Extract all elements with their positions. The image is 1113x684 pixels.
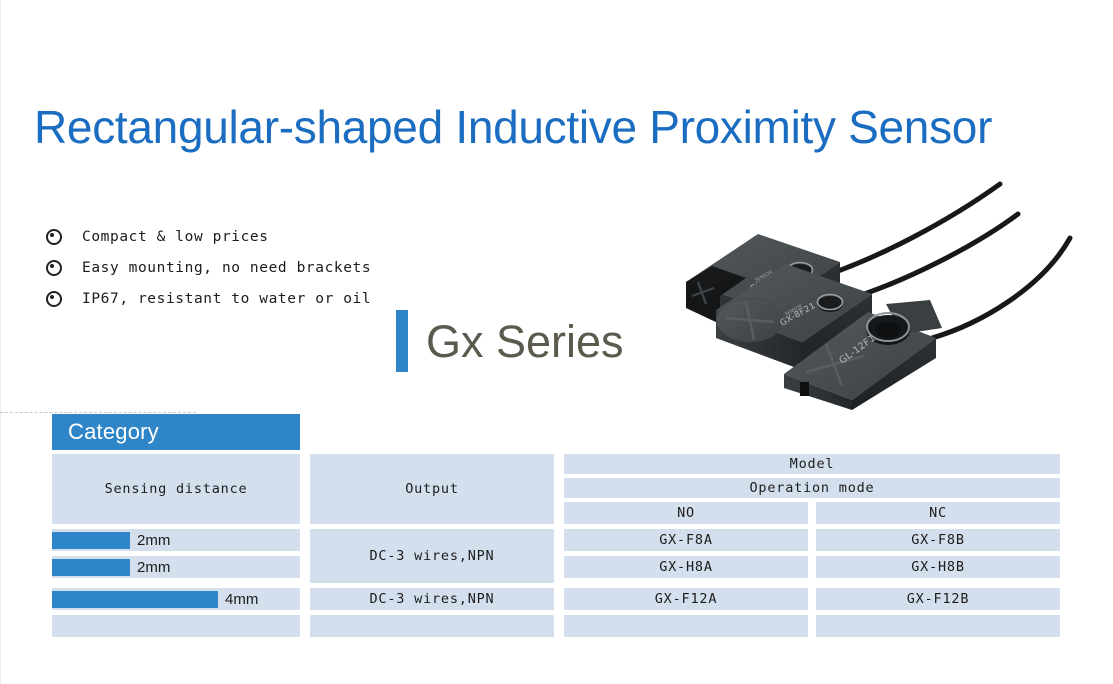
series-heading: Gx Series [396, 310, 624, 372]
cell-output: DC-3 wires,NPN [310, 588, 554, 610]
category-banner: Category [52, 414, 300, 450]
header-nc: NC [816, 502, 1060, 524]
sensing-distance-bar [52, 532, 130, 549]
header-operation-mode: Operation mode [564, 478, 1060, 498]
category-banner-label: Category [52, 419, 159, 445]
page-title: Rectangular-shaped Inductive Proximity S… [34, 97, 1074, 157]
cell-model-nc [816, 615, 1060, 637]
cell-model-nc: GX-F12B [816, 588, 1060, 610]
table-row: 2mm [52, 556, 300, 578]
list-item: Easy mounting, no need brackets [46, 252, 466, 283]
sensing-distance-label: 4mm [225, 591, 258, 608]
product-photo: GX-8H21 SENSOR GX-8F21 SENSOR [650, 178, 1113, 410]
table-row: 2mm [52, 529, 300, 551]
list-item: Compact & low prices [46, 221, 466, 252]
cell-model-no: GX-H8A [564, 556, 808, 578]
feature-text: IP67, resistant to water or oil [82, 291, 371, 307]
table-row: 4mm [52, 588, 300, 610]
series-label: Gx Series [426, 319, 624, 364]
cell-model-no: GX-F12A [564, 588, 808, 610]
cell-model-no [564, 615, 808, 637]
header-model: Model [564, 454, 1060, 474]
page-left-edge [0, 0, 1, 684]
cell-output [310, 615, 554, 637]
cell-model-nc: GX-H8B [816, 556, 1060, 578]
feature-list: Compact & low prices Easy mounting, no n… [46, 221, 466, 314]
cell-model-no: GX-F8A [564, 529, 808, 551]
header-no: NO [564, 502, 808, 524]
feature-text: Easy mounting, no need brackets [82, 260, 371, 276]
header-output: Output [310, 454, 554, 524]
sensing-distance-label: 2mm [137, 559, 170, 576]
bullet-dot-icon [46, 229, 62, 245]
header-sensing-distance: Sensing distance [52, 454, 300, 524]
sensing-distance-bar [52, 559, 130, 576]
layout-guide-line [0, 412, 196, 413]
table-row [52, 615, 300, 637]
bullet-dot-icon [46, 260, 62, 276]
sensing-distance-label: 2mm [137, 532, 170, 549]
sensing-distance-bar [52, 591, 218, 608]
series-accent-bar [396, 310, 408, 372]
feature-text: Compact & low prices [82, 229, 269, 245]
bullet-dot-icon [46, 291, 62, 307]
cell-model-nc: GX-F8B [816, 529, 1060, 551]
cell-output: DC-3 wires,NPN [310, 529, 554, 583]
